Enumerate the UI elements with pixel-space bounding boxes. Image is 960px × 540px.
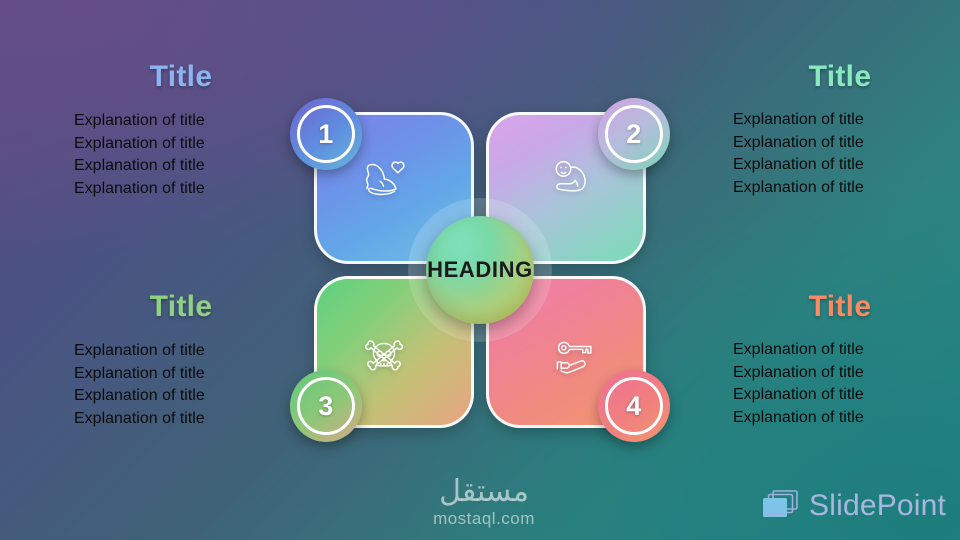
center-heading-label: HEADING (427, 257, 533, 283)
person-flexing-arm-icon (551, 157, 597, 199)
quadrant-4-title: Title (733, 292, 947, 322)
badge-number: 4 (626, 391, 642, 422)
explanation-line: Explanation of title (74, 155, 288, 178)
badge-number: 1 (318, 119, 334, 150)
quadrant-2-lines: Explanation of title Explanation of titl… (733, 109, 947, 199)
explanation-line: Explanation of title (74, 178, 288, 201)
explanation-line: Explanation of title (74, 385, 288, 408)
explanation-line: Explanation of title (733, 384, 947, 407)
mostaql-arabic-wordmark: مستقل (414, 476, 554, 508)
mostaql-domain-label: mostaql.com (414, 509, 554, 529)
slidepoint-logo: SlidePoint (760, 489, 946, 523)
slidepoint-slides-icon (760, 489, 800, 523)
explanation-line: Explanation of title (733, 154, 947, 177)
quadrant-3-text-block: Title Explanation of title Explanation o… (74, 292, 288, 430)
explanation-line: Explanation of title (74, 408, 288, 431)
quadrant-badge-2[interactable]: 2 (598, 98, 670, 170)
explanation-line: Explanation of title (733, 407, 947, 430)
quadrant-diagram: HEADING 1 2 3 4 (314, 112, 646, 428)
explanation-line: Explanation of title (733, 132, 947, 155)
quadrant-4-lines: Explanation of title Explanation of titl… (733, 339, 947, 429)
center-heading-orb[interactable]: HEADING (426, 216, 534, 324)
explanation-line: Explanation of title (733, 177, 947, 200)
quadrant-badge-4[interactable]: 4 (598, 370, 670, 442)
quadrant-1-text-block: Title Explanation of title Explanation o… (74, 62, 288, 200)
explanation-line: Explanation of title (733, 339, 947, 362)
quadrant-3-title: Title (74, 292, 288, 322)
badge-number: 2 (626, 119, 642, 150)
quadrant-badge-1[interactable]: 1 (290, 98, 362, 170)
explanation-line: Explanation of title (733, 109, 947, 132)
explanation-line: Explanation of title (74, 133, 288, 156)
quadrant-1-lines: Explanation of title Explanation of titl… (74, 110, 288, 200)
badge-number: 3 (318, 391, 334, 422)
explanation-line: Explanation of title (74, 110, 288, 133)
slidepoint-wordmark: SlidePoint (809, 491, 946, 521)
quadrant-2-title: Title (733, 62, 947, 92)
explanation-line: Explanation of title (74, 363, 288, 386)
skull-crossbones-icon (361, 337, 407, 379)
quadrant-4-text-block: Title Explanation of title Explanation o… (733, 292, 947, 429)
quadrant-2-text-block: Title Explanation of title Explanation o… (733, 62, 947, 199)
explanation-line: Explanation of title (74, 340, 288, 363)
quadrant-1-title: Title (74, 62, 288, 92)
quadrant-badge-3[interactable]: 3 (290, 370, 362, 442)
hand-holding-key-icon (551, 337, 597, 379)
quadrant-3-lines: Explanation of title Explanation of titl… (74, 340, 288, 430)
mostaql-logo: مستقل mostaql.com (414, 476, 554, 529)
muscle-arm-heart-icon (361, 157, 407, 199)
explanation-line: Explanation of title (733, 362, 947, 385)
